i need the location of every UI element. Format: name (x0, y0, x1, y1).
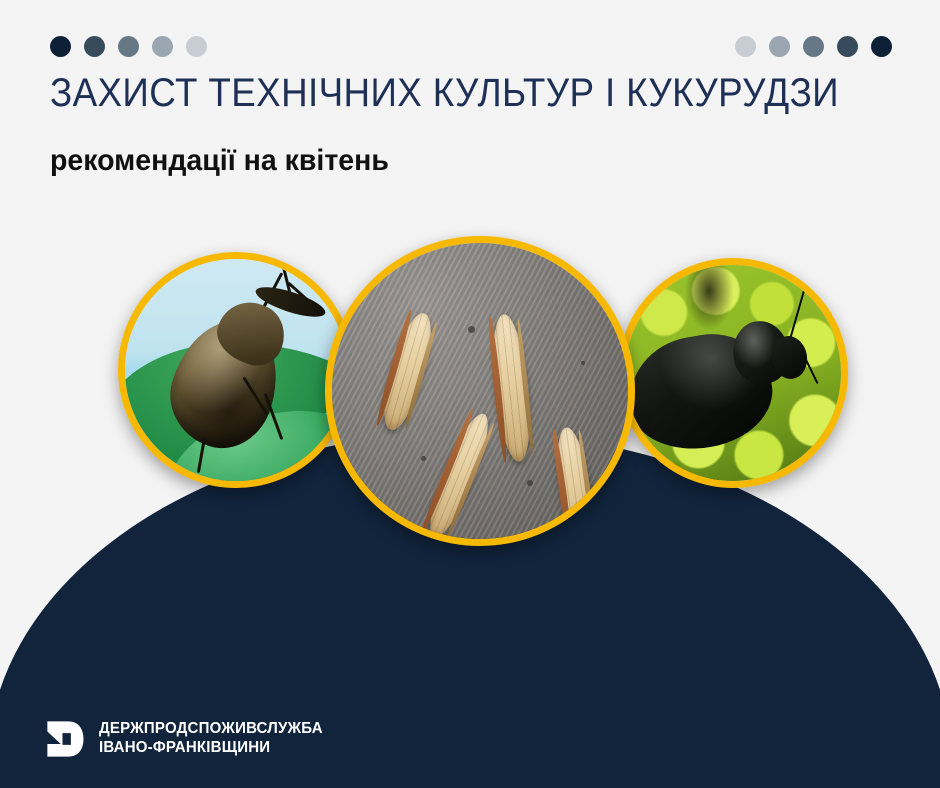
photo-circle-black-beetle (618, 258, 848, 488)
decor-dot (735, 36, 756, 57)
weevil-scene (125, 259, 347, 481)
derzhprodspozhyvsluzhba-d-monogram-icon (44, 718, 86, 760)
decor-dot (84, 36, 105, 57)
page-title: ЗАХИСТ ТЕХНІЧНИХ КУЛЬТУР І КУКУРУДЗИ (50, 72, 839, 114)
organization-logo: ДЕРЖПРОДСПОЖИВСЛУЖБА ІВАНО-ФРАНКІВЩИНИ (44, 718, 330, 760)
decor-dot (871, 36, 892, 57)
decor-dot (837, 36, 858, 57)
soil-speck (421, 456, 426, 461)
decor-dot (118, 36, 139, 57)
beetle-scene (625, 265, 841, 481)
decor-dot (50, 36, 71, 57)
photo-circle-wireworm-larvae (325, 236, 635, 546)
decor-dot (769, 36, 790, 57)
page-subtitle: рекомендації на квітень (50, 144, 389, 177)
logo-line-2: ІВАНО-ФРАНКІВЩИНИ (99, 739, 323, 758)
decor-dot (803, 36, 824, 57)
soil-speck (468, 326, 475, 333)
logo-line-1: ДЕРЖПРОДСПОЖИВСЛУЖБА (99, 720, 323, 739)
decor-dot (152, 36, 173, 57)
decor-dot (186, 36, 207, 57)
dot-row-right (735, 36, 892, 57)
photo-circle-weevil-on-leaf (118, 252, 354, 488)
logo-wordmark: ДЕРЖПРОДСПОЖИВСЛУЖБА ІВАНО-ФРАНКІВЩИНИ (99, 720, 323, 758)
dot-row-left (50, 36, 207, 57)
shadow-overlay (685, 258, 733, 330)
larvae-scene (332, 243, 628, 539)
poster-canvas: ЗАХИСТ ТЕХНІЧНИХ КУЛЬТУР І КУКУРУДЗИ рек… (0, 0, 940, 788)
